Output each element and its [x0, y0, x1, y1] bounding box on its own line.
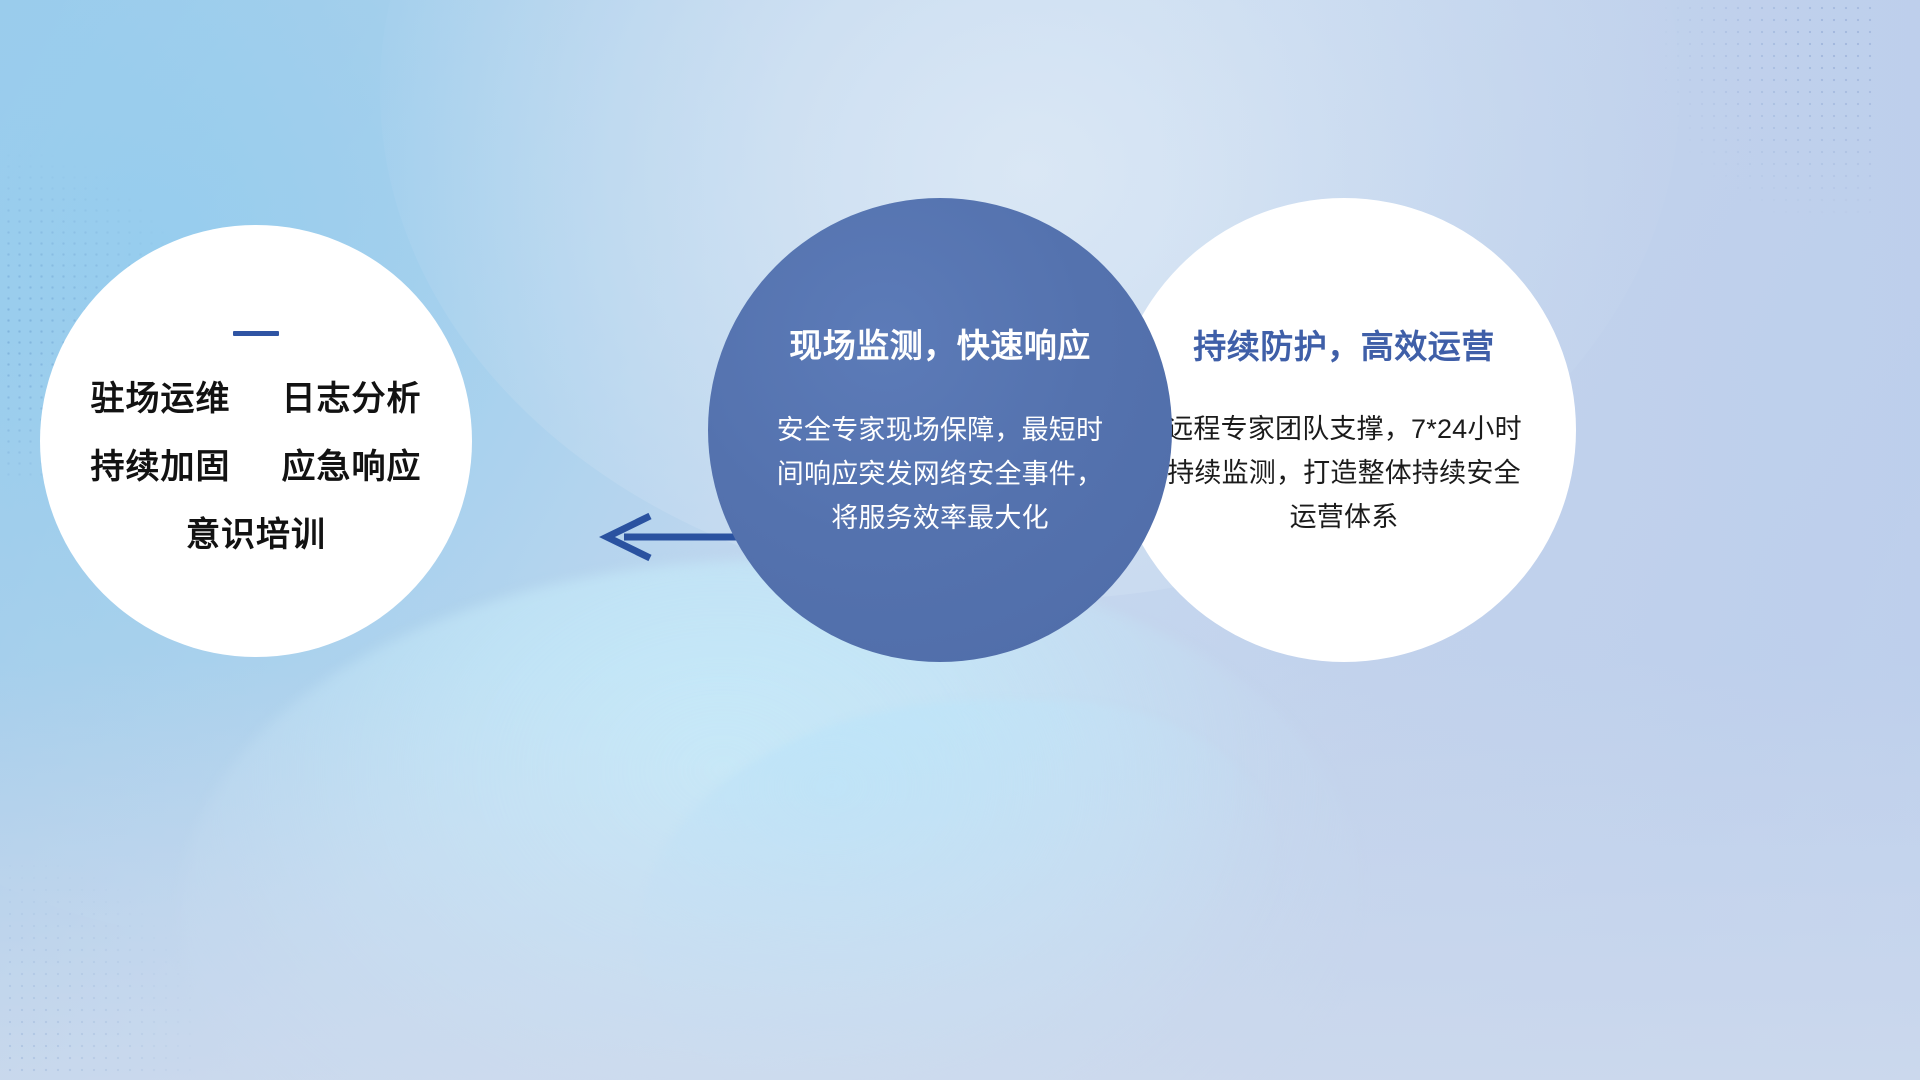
keywords-circle: 驻场运维 日志分析 持续加固 应急响应 意识培训	[40, 225, 472, 657]
keyword-label: 持续加固	[91, 448, 231, 486]
continuous-protection-circle: 持续防护，高效运营 远程专家团队支撑，7*24小时持续监测，打造整体持续安全运营…	[1112, 198, 1576, 662]
keyword-label: 日志分析	[281, 380, 421, 418]
onsite-monitoring-body: 安全专家现场保障，最短时间响应突发网络安全事件，将服务效率最大化	[775, 409, 1105, 540]
onsite-monitoring-title: 现场监测，快速响应	[789, 319, 1091, 367]
keyword-row-3: 意识培训	[186, 518, 326, 552]
keyword-label: 驻场运维	[91, 380, 231, 418]
keyword-label: 意识培训	[186, 516, 326, 554]
continuous-protection-body: 远程专家团队支撑，7*24小时持续监测，打造整体持续安全运营体系	[1164, 408, 1524, 539]
onsite-monitoring-circle: 现场监测，快速响应 安全专家现场保障，最短时间响应突发网络安全事件，将服务效率最…	[708, 198, 1172, 662]
keyword-label: 应急响应	[281, 448, 421, 486]
keyword-row-2: 持续加固 应急响应	[91, 450, 422, 484]
keyword-row-1: 驻场运维 日志分析	[91, 382, 422, 416]
continuous-protection-title: 持续防护，高效运营	[1193, 320, 1495, 368]
slide-canvas: 驻场运维 日志分析 持续加固 应急响应 意识培训 持续防护，高效运营 远程专家团…	[0, 0, 1920, 1080]
divider-dash	[233, 331, 279, 336]
